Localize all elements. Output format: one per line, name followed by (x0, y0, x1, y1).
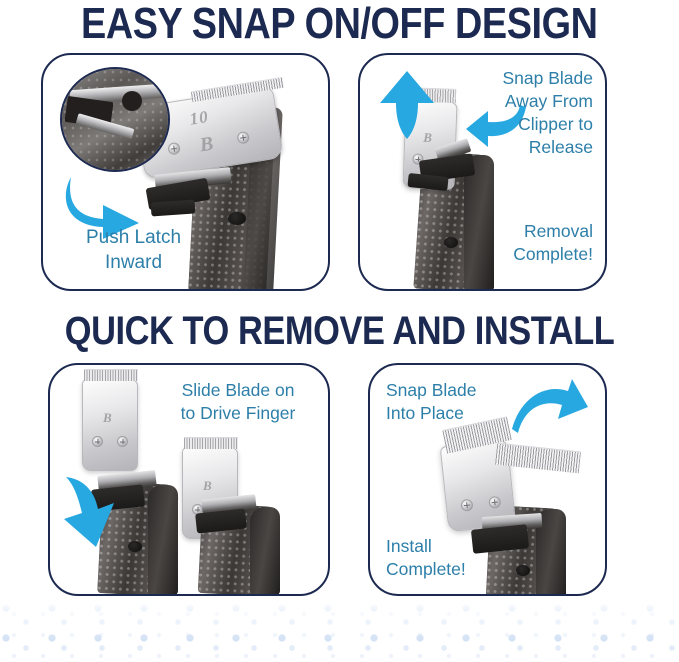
heading-quick-to-remove-text: QUICK TO REMOVE AND INSTALL (65, 311, 615, 351)
clipper-body-hole (128, 541, 142, 552)
blade-screw-left (460, 499, 473, 512)
panel-push-latch: 10 B Push Latch Inward (41, 53, 330, 291)
caption-snap-blade-into-place: Snap Blade Into Place (386, 379, 526, 425)
blade-screw-right (236, 131, 250, 145)
clipper-body-shadow-side (250, 507, 280, 595)
blade-screw-left (167, 142, 181, 156)
latch-closeup-inset (60, 67, 170, 172)
detached-blade-teeth (84, 369, 138, 381)
blade-number-label: 10 (188, 107, 210, 130)
panel-snap-into-place: Snap Blade Into Place Install Complete! (368, 363, 607, 596)
caption-removal-complete: Removal Complete! (433, 220, 593, 266)
caption-slide-blade: Slide Blade on to Drive Finger (158, 379, 318, 425)
bottom-dot-pattern-decoration (0, 600, 679, 662)
caption-install-complete: Install Complete! (386, 535, 526, 581)
panel-slide-blade: B B (48, 363, 330, 596)
clipper-body-shadow-side (148, 485, 178, 595)
brand-b-logo: B (103, 410, 112, 426)
panel-snap-away: B Snap Blade Away From Clipper to Releas… (358, 53, 607, 291)
blade-screw-left (92, 436, 103, 447)
caption-push-latch: Push Latch Inward (51, 225, 216, 275)
clipper-body-hole (228, 212, 246, 225)
heading-easy-snap-text: EASY SNAP ON/OFF DESIGN (81, 2, 597, 46)
heading-easy-snap: EASY SNAP ON/OFF DESIGN (0, 2, 679, 46)
down-arrow-icon (60, 473, 122, 553)
caption-snap-blade-away: Snap Blade Away From Clipper to Release (433, 67, 593, 159)
brand-b-logo: B (198, 133, 215, 158)
inset-pivot (122, 91, 142, 111)
brand-b-logo: B (203, 478, 212, 494)
sliding-blade-teeth (184, 437, 238, 449)
blade-screw-right (117, 436, 128, 447)
infographic-page: EASY SNAP ON/OFF DESIGN 10 B (0, 0, 679, 662)
blade-screw-right (488, 496, 501, 509)
heading-quick-to-remove: QUICK TO REMOVE AND INSTALL (0, 311, 679, 351)
detached-blade-plate: B (82, 379, 138, 471)
up-arrow-icon (378, 69, 436, 141)
